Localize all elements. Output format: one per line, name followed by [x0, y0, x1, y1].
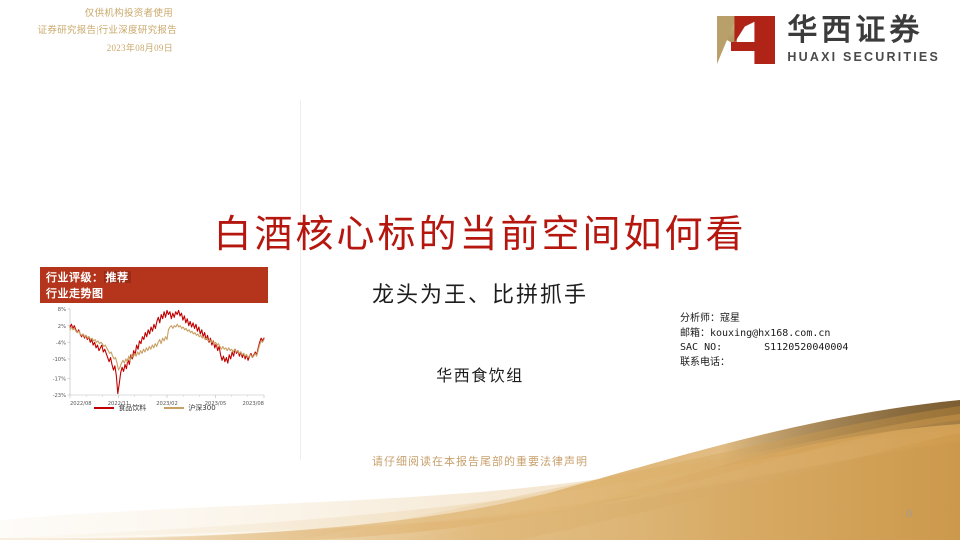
- analyst-info-block: 分析师：寇星 邮箱：kouxing@hx168.com.cn SAC NO:S1…: [680, 312, 848, 370]
- svg-text:-10%: -10%: [53, 357, 66, 363]
- industry-trend-label: 行业走势图: [46, 287, 104, 300]
- logo-english-name: HUAXI SECURITIES: [787, 50, 940, 64]
- legend-swatch-csi300: [164, 407, 184, 409]
- legal-disclaimer: 请仔细阅读在本报告尾部的重要法律声明: [0, 453, 960, 469]
- page-number: 0: [906, 506, 912, 521]
- svg-text:-23%: -23%: [53, 393, 66, 399]
- industry-trend-banner: 行业走势图: [40, 283, 268, 303]
- header-line-institutional: 仅供机构投资者使用: [0, 6, 195, 23]
- legend-swatch-food-beverage: [94, 407, 114, 409]
- svg-text:2%: 2%: [58, 324, 66, 330]
- svg-text:-4%: -4%: [56, 340, 66, 346]
- report-header-meta: 仅供机构投资者使用 证券研究报告|行业深度研究报告 2023年08月09日: [0, 6, 195, 57]
- analyst-phone: 联系电话：: [680, 356, 848, 371]
- huaxi-h-mark-icon: [717, 16, 775, 64]
- logo-chinese-name: 华西证券: [787, 16, 940, 46]
- page-title: 白酒核心标的当前空间如何看: [0, 203, 960, 258]
- analyst-sac-value: S1120520040004: [764, 341, 848, 356]
- analyst-sac-label: SAC NO:: [680, 342, 722, 353]
- svg-text:-17%: -17%: [53, 377, 66, 383]
- legend-item-csi300: 沪深300: [164, 403, 215, 413]
- analyst-email: 邮箱：kouxing@hx168.com.cn: [680, 327, 848, 342]
- legend-label-csi300: 沪深300: [188, 403, 215, 413]
- svg-text:8%: 8%: [58, 307, 66, 313]
- company-logo: 华西证券 HUAXI SECURITIES: [717, 14, 940, 66]
- legend-item-food-beverage: 食品饮料: [94, 403, 146, 413]
- header-line-report-type: 证券研究报告|行业深度研究报告: [0, 23, 195, 40]
- analyst-name: 分析师：寇星: [680, 312, 848, 327]
- analyst-sac-row: SAC NO:S1120520040004: [680, 341, 848, 356]
- legend-label-food-beverage: 食品饮料: [118, 403, 146, 413]
- header-line-date: 2023年08月09日: [0, 40, 195, 57]
- chart-legend: 食品饮料 沪深300: [40, 403, 270, 413]
